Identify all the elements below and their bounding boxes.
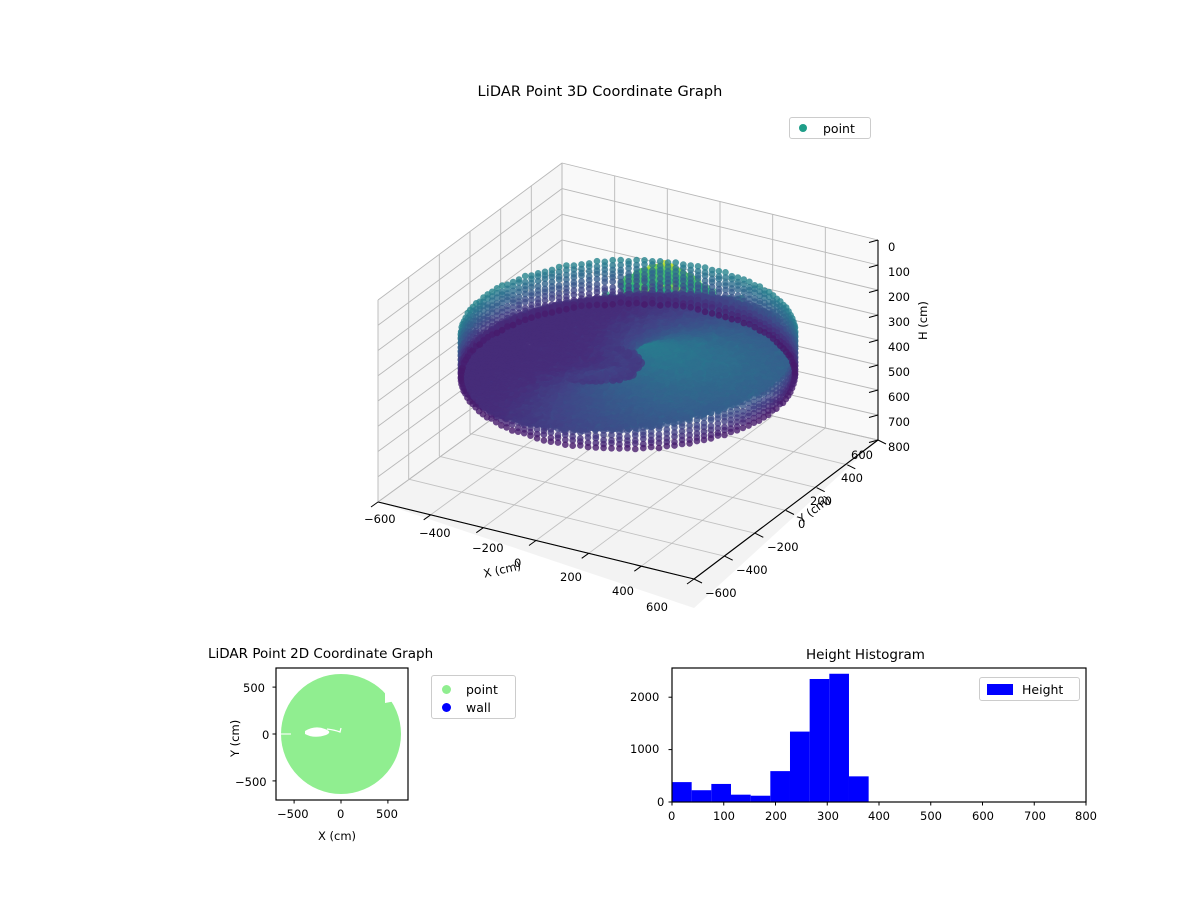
plot3d-ztick-1: 100 — [888, 265, 910, 279]
histogram-xtick-0: 0 — [668, 809, 675, 823]
plot2d-xaxis-label: X (cm) — [318, 829, 356, 843]
histogram-title: Height Histogram — [806, 647, 925, 663]
histogram-xtick-1: 100 — [713, 809, 735, 823]
plot3d-canvas — [0, 0, 1200, 900]
plot2d-xtick-2: 500 — [376, 807, 398, 821]
plot3d-ztick-5: 500 — [888, 365, 910, 379]
plot3d-xtick-2: −200 — [472, 541, 504, 555]
plot3d-xtick-6: 600 — [646, 600, 668, 614]
histogram-bar — [770, 771, 790, 802]
plot3d-ztick-2: 200 — [888, 290, 910, 304]
plot3d-ztick-0: 0 — [888, 240, 895, 254]
plot2d-ytick-2: −500 — [235, 775, 267, 789]
plot3d-xtick-4: 200 — [560, 570, 582, 584]
plot3d-ytick-2: −200 — [767, 540, 799, 554]
plot2d-legend[interactable]: point wall — [431, 675, 516, 719]
plot3d-ytick-5: 400 — [841, 471, 863, 485]
plot3d-ztick-4: 400 — [888, 340, 910, 354]
plot3d-ztick-7: 700 — [888, 415, 910, 429]
plot3d-ztick-3: 300 — [888, 315, 910, 329]
plot3d-ytick-6: 600 — [851, 448, 873, 462]
legend-marker-point-icon — [442, 685, 451, 694]
histogram-bar — [731, 795, 751, 802]
plot2d-xtick-0: −500 — [277, 807, 309, 821]
plot3d-xtick-5: 400 — [612, 584, 634, 598]
plot3d-legend[interactable]: point — [789, 117, 871, 139]
histogram-bar — [692, 790, 712, 802]
histogram-bar — [751, 796, 771, 802]
plot2d-ytick-0: 500 — [243, 681, 265, 695]
plot2d-point-disc — [281, 674, 401, 794]
plot2d-legend-row-point[interactable]: point — [442, 680, 515, 698]
plot2d-canvas — [273, 668, 409, 804]
plot3d-xtick-0: −600 — [364, 512, 396, 526]
plot2d-legend-row-wall[interactable]: wall — [442, 698, 515, 716]
histogram-xtick-3: 300 — [817, 809, 839, 823]
histogram-bar — [829, 674, 849, 802]
histogram-legend[interactable]: Height — [979, 677, 1080, 701]
plot2d-xtick-1: 0 — [337, 807, 344, 821]
histogram-ytick-2: 2000 — [630, 690, 659, 704]
legend-marker-point-icon — [799, 124, 807, 132]
plot3d-ytick-1: −400 — [736, 563, 768, 577]
histogram-bar — [672, 782, 692, 802]
plot3d-xtick-1: −400 — [419, 526, 451, 540]
histogram-xtick-5: 500 — [920, 809, 942, 823]
histogram-xtick-4: 400 — [868, 809, 890, 823]
histogram-legend-label-height: Height — [1022, 682, 1063, 697]
plot3d-ytick-0: −600 — [705, 586, 737, 600]
figure-canvas: LiDAR Point 3D Coordinate Graph — [0, 0, 1200, 900]
legend-marker-wall-icon — [442, 703, 451, 712]
plot2d-title: LiDAR Point 2D Coordinate Graph — [208, 646, 433, 662]
histogram-bar — [849, 776, 869, 802]
histogram-xtick-8: 800 — [1075, 809, 1097, 823]
histogram-ytick-0: 0 — [657, 795, 664, 809]
plot2d-legend-label-wall: wall — [466, 700, 491, 715]
plot3d-ztick-6: 600 — [888, 390, 910, 404]
plot2d-ytick-1: 0 — [262, 728, 269, 742]
histogram-bar — [711, 784, 731, 802]
histogram-bar — [790, 732, 810, 802]
plot3d-point-cloud — [458, 257, 799, 453]
legend-marker-height-icon — [987, 684, 1013, 695]
plot2d-yaxis-label: Y (cm) — [228, 720, 242, 757]
histogram-xtick-7: 700 — [1024, 809, 1046, 823]
histogram-bar — [810, 679, 830, 802]
histogram-ytick-1: 1000 — [630, 742, 659, 756]
plot3d-ztick-8: 800 — [888, 440, 910, 454]
histogram-xtick-6: 600 — [972, 809, 994, 823]
histogram-xtick-2: 200 — [765, 809, 787, 823]
plot3d-zaxis-label: H (cm) — [916, 301, 930, 340]
plot3d-legend-label-point: point — [823, 121, 855, 136]
plot2d-legend-label-point: point — [466, 682, 498, 697]
